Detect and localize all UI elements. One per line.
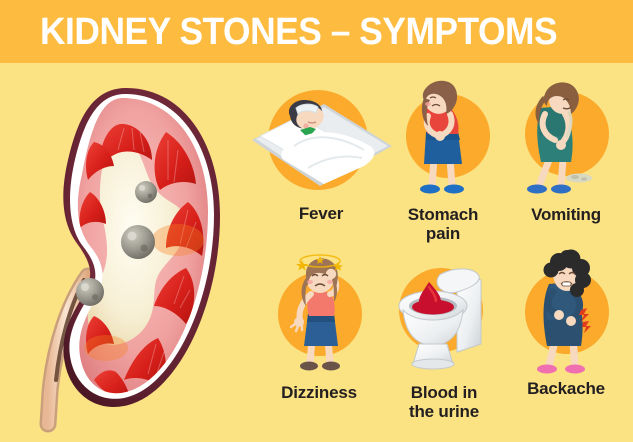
backache-icon — [505, 248, 627, 376]
stomach-pain-icon — [382, 74, 504, 202]
fever-icon — [246, 82, 396, 204]
symptom-label: Vomiting — [505, 205, 627, 224]
symptom-label: Blood in the urine — [383, 383, 505, 421]
symptom-label: Dizziness — [258, 383, 380, 402]
symptom-dizziness: Dizziness — [258, 252, 380, 402]
vomiting-icon — [505, 74, 627, 202]
page-title: KIDNEY STONES – SYMPTOMS — [40, 13, 557, 51]
dizziness-icon — [258, 252, 380, 380]
kidney-illustration — [28, 80, 228, 420]
symptom-stomach-pain: Stomach pain — [382, 74, 504, 243]
header-band: KIDNEY STONES – SYMPTOMS — [0, 0, 633, 63]
symptom-blood-in-the-urine: Blood in the urine — [383, 252, 505, 421]
symptom-vomiting: Vomiting — [505, 74, 627, 224]
symptom-fever: Fever — [246, 82, 396, 223]
symptom-label: Fever — [246, 204, 396, 223]
symptom-label: Stomach pain — [382, 205, 504, 243]
blood-in-urine-icon — [383, 252, 505, 380]
infographic-poster: KIDNEY STONES – SYMPTOMS — [0, 0, 633, 442]
symptom-backache: Backache — [505, 248, 627, 398]
